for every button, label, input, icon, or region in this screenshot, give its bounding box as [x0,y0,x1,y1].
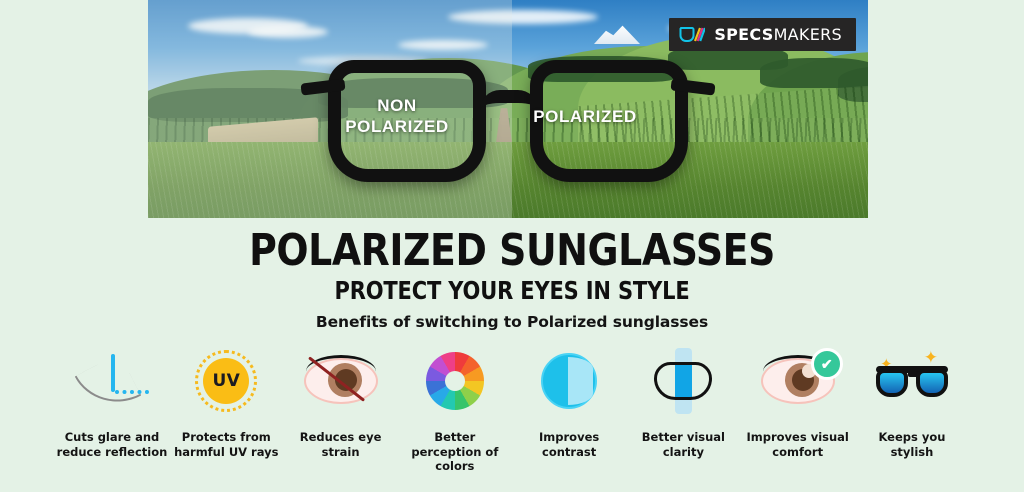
benefit-item-uv: UV Protects from harmful UV rays [170,344,282,459]
benefit-item-stylish: ✦ ✦ Keeps you stylish [856,344,968,459]
benefit-caption: Keeps you stylish [856,430,968,459]
uv-protection-icon: UV [195,344,257,418]
brand-logo[interactable]: SPECSMAKERS [669,18,856,51]
sunglasses-right-lens [916,369,948,397]
polarized-label: POLARIZED [510,106,660,127]
glare-curve [75,353,142,419]
cloud [448,10,598,24]
benefit-item-glare: Cuts glare and reduce reflection [56,344,168,459]
eye-strain-icon [304,344,378,418]
benefit-caption: Better visual clarity [627,430,739,459]
glare-ray-vertical [111,354,115,392]
benefits-tagline: Benefits of switching to Polarized sungl… [0,313,1024,331]
stylish-sunglasses-icon: ✦ ✦ [874,344,950,418]
eye-comfort-check-icon: ✔ [761,344,835,418]
page-subtitle: PROTECT YOUR EYES IN STYLE [82,277,942,304]
benefits-row: Cuts glare and reduce reflection UV Prot… [56,344,968,474]
benefit-item-clarity: Better visual clarity [627,344,739,459]
color-wheel-center [445,371,465,391]
hero-image: NON POLARIZED POLARIZED SPECSMAKERS [148,0,868,218]
benefit-caption: Improves visual comfort [742,430,854,459]
glare-ray-dotted [115,390,149,394]
contrast-circle-icon [541,344,597,418]
benefit-item-contrast: Improves contrast [513,344,625,459]
uv-dotted-ring [195,350,257,412]
cloud [398,40,488,50]
benefit-item-colors: Better perception of colors [399,344,511,474]
benefit-item-eye-strain: Reduces eye strain [285,344,397,459]
benefit-item-comfort: ✔ Improves visual comfort [742,344,854,459]
benefit-caption: Improves contrast [513,430,625,459]
check-badge-icon: ✔ [811,348,843,380]
non-polarized-label-line1: NON [332,95,462,116]
sparkle-icon: ✦ [924,349,938,366]
visual-clarity-lens-icon [648,344,718,418]
non-polarized-label-line2: POLARIZED [332,116,462,137]
cloud [248,26,328,38]
clarity-lens-outline [654,362,712,400]
non-polarized-label: NON POLARIZED [332,95,462,137]
contrast-light-half [568,357,593,405]
specs-lens-logo-icon [679,25,705,44]
sunglasses-left-lens [876,369,908,397]
brand-logo-text: SPECSMAKERS [714,25,842,44]
glare-reflection-icon [79,344,145,418]
benefit-caption: Protects from harmful UV rays [170,430,282,459]
brand-name-light: MAKERS [774,25,842,44]
poster-canvas: NON POLARIZED POLARIZED SPECSMAKERS POLA… [0,0,1024,492]
benefit-caption: Reduces eye strain [285,430,397,459]
brand-name-bold: SPECS [714,25,773,44]
page-title: POLARIZED SUNGLASSES [72,228,953,274]
benefit-caption: Cuts glare and reduce reflection [56,430,168,459]
color-wheel-icon [426,344,484,418]
benefit-caption: Better perception of colors [399,430,511,474]
